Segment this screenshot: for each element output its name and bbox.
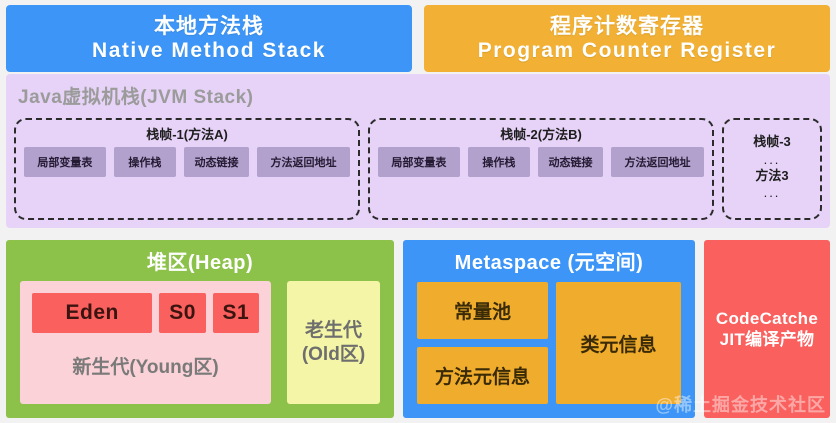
stack-frame-3: 栈帧-3 ... 方法3 ... <box>722 118 822 220</box>
stack-frame-2-title: 栈帧-2(方法B) <box>500 124 582 143</box>
dynamic-linking-slot: 动态链接 <box>538 147 603 177</box>
old-generation-panel: 老生代 (Old区) <box>287 281 380 404</box>
code-cache-label-line2: JIT编译产物 <box>720 329 815 350</box>
return-address-slot: 方法返回地址 <box>257 147 350 177</box>
stack-frame-2-slots: 局部变量表 操作栈 动态链接 方法返回地址 <box>378 147 704 177</box>
jvm-stack-title: Java虚拟机栈(JVM Stack) <box>18 82 253 109</box>
stack-frame-2: 栈帧-2(方法B) 局部变量表 操作栈 动态链接 方法返回地址 <box>368 118 714 220</box>
bottom-row: 堆区(Heap) Eden S0 S1 新生代(Young区) 老生代 (Old… <box>0 240 836 423</box>
heap-title: 堆区(Heap) <box>20 246 380 275</box>
program-counter-register-title-cn: 程序计数寄存器 <box>550 15 704 39</box>
stack-frame-3-title: 栈帧-3 <box>753 135 791 150</box>
method-metadata-box: 方法元信息 <box>417 347 548 404</box>
return-address-slot: 方法返回地址 <box>611 147 704 177</box>
constant-pool-box: 常量池 <box>417 282 548 339</box>
stack-frame-3-dots-bottom: ... <box>764 184 781 201</box>
survivor-s0-space: S0 <box>159 293 205 333</box>
stack-frame-1: 栈帧-1(方法A) 局部变量表 操作栈 动态链接 方法返回地址 <box>14 118 360 220</box>
jvm-memory-diagram: 本地方法栈 Native Method Stack 程序计数寄存器 Progra… <box>0 0 836 423</box>
metaspace-left-column: 常量池 方法元信息 <box>417 282 548 404</box>
stack-frame-3-method: 方法3 <box>755 169 788 184</box>
operand-stack-slot: 操作栈 <box>114 147 176 177</box>
heap-panel: 堆区(Heap) Eden S0 S1 新生代(Young区) 老生代 (Old… <box>6 240 394 418</box>
program-counter-register-header: 程序计数寄存器 Program Counter Register <box>424 5 830 72</box>
class-metadata-box: 类元信息 <box>556 282 681 404</box>
old-generation-label-line2: (Old区) <box>302 343 365 366</box>
stack-frame-3-dots-top: ... <box>764 151 781 168</box>
stack-frames-container: 栈帧-1(方法A) 局部变量表 操作栈 动态链接 方法返回地址 栈帧-2(方法B… <box>14 118 822 220</box>
dynamic-linking-slot: 动态链接 <box>184 147 249 177</box>
survivor-s1-space: S1 <box>213 293 259 333</box>
young-spaces-row: Eden S0 S1 <box>32 293 259 333</box>
stack-frame-1-slots: 局部变量表 操作栈 动态链接 方法返回地址 <box>24 147 350 177</box>
program-counter-register-title-en: Program Counter Register <box>478 39 777 63</box>
eden-space: Eden <box>32 293 152 333</box>
local-variable-table-slot: 局部变量表 <box>378 147 460 177</box>
young-generation-panel: Eden S0 S1 新生代(Young区) <box>20 281 271 404</box>
young-generation-label: 新生代(Young区) <box>32 333 259 398</box>
metaspace-title: Metaspace (元空间) <box>417 246 681 275</box>
native-method-stack-title-en: Native Method Stack <box>92 39 326 63</box>
metaspace-panel: Metaspace (元空间) 常量池 方法元信息 类元信息 <box>403 240 695 418</box>
metaspace-right-column: 类元信息 <box>556 282 681 404</box>
metaspace-body: 常量池 方法元信息 类元信息 <box>417 282 681 404</box>
code-cache-label-line1: CodeCatche <box>716 308 818 329</box>
code-cache-panel: CodeCatche JIT编译产物 <box>704 240 830 418</box>
old-generation-label-line1: 老生代 <box>305 319 362 342</box>
stack-frame-1-title: 栈帧-1(方法A) <box>146 124 228 143</box>
operand-stack-slot: 操作栈 <box>468 147 530 177</box>
top-header-row: 本地方法栈 Native Method Stack 程序计数寄存器 Progra… <box>0 0 836 72</box>
heap-body: Eden S0 S1 新生代(Young区) 老生代 (Old区) <box>20 281 380 404</box>
native-method-stack-header: 本地方法栈 Native Method Stack <box>6 5 412 72</box>
local-variable-table-slot: 局部变量表 <box>24 147 106 177</box>
native-method-stack-title-cn: 本地方法栈 <box>154 15 264 39</box>
jvm-stack-panel: Java虚拟机栈(JVM Stack) 栈帧-1(方法A) 局部变量表 操作栈 … <box>6 74 830 228</box>
